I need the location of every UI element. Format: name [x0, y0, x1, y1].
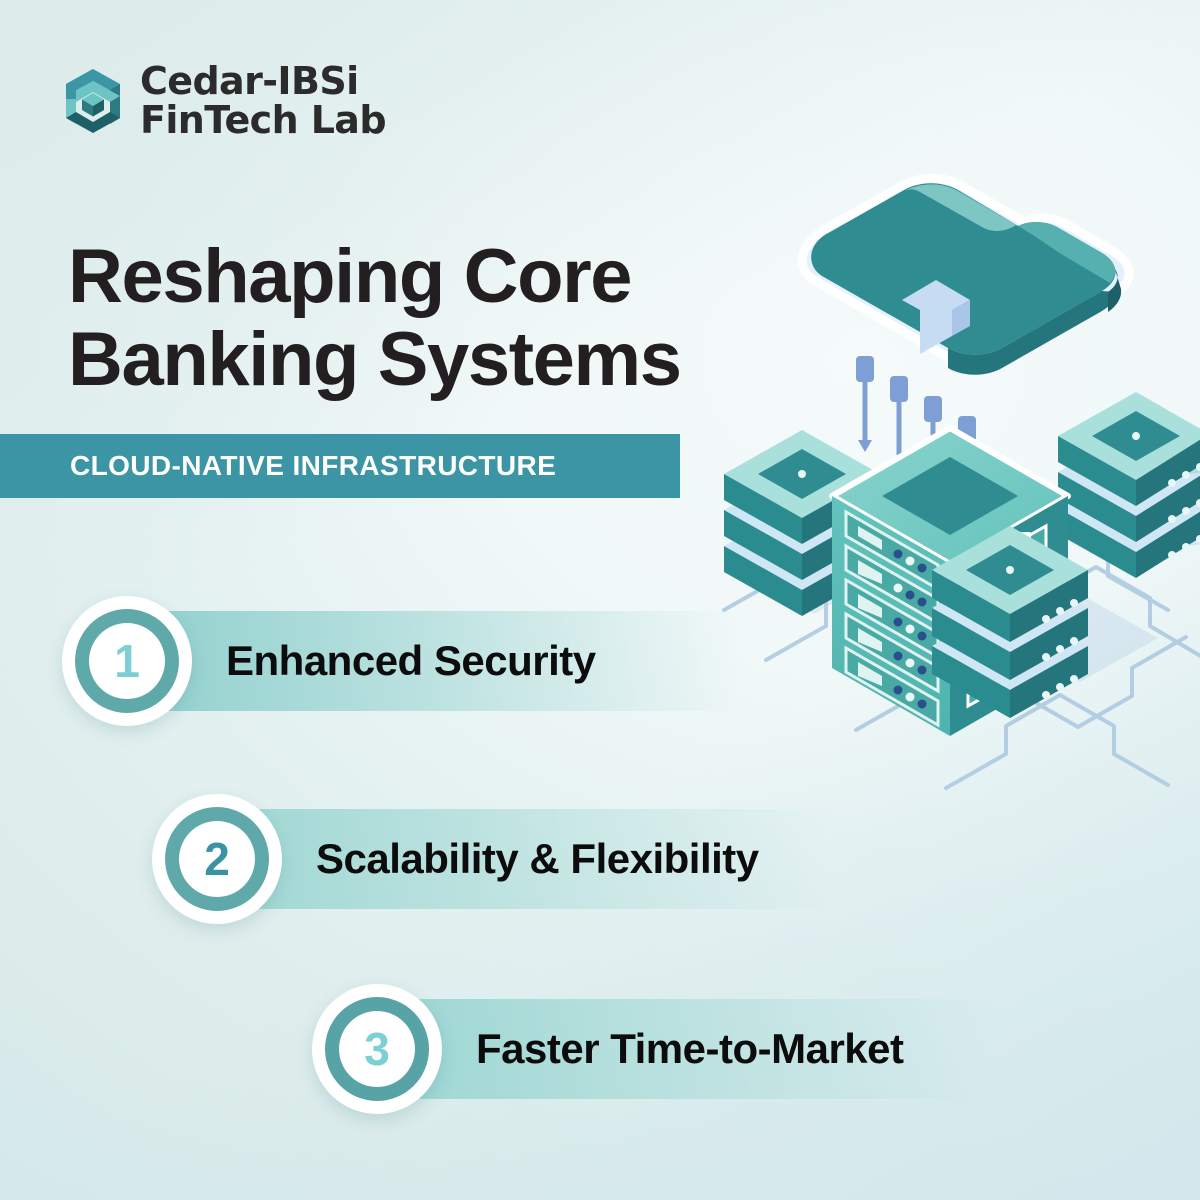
- benefit-number-2: 2: [204, 836, 230, 882]
- benefit-label-2: Scalability & Flexibility: [316, 835, 759, 883]
- ground-shadows: [736, 466, 1200, 682]
- benefit-number-1: 1: [114, 638, 140, 684]
- brand-wordmark: Cedar-IBSi FinTech Lab: [140, 62, 386, 140]
- badge-ring-3: 3: [325, 997, 429, 1101]
- ribbon-label: CLOUD-NATIVE INFRASTRUCTURE: [0, 450, 556, 482]
- circuit-traces: [724, 517, 1200, 788]
- main-server-rack: [832, 428, 1068, 736]
- benefit-label-3: Faster Time-to-Market: [476, 1025, 904, 1073]
- benefit-badge-1: 1: [62, 596, 192, 726]
- upload-arrow-icon: [902, 280, 970, 354]
- benefit-item-2[interactable]: 2 Scalability & Flexibility: [152, 794, 759, 924]
- page-title: Reshaping Core Banking Systems: [68, 236, 681, 402]
- server-stack-right: [1058, 392, 1200, 578]
- brand-logo[interactable]: Cedar-IBSi FinTech Lab: [62, 62, 386, 140]
- subtitle-ribbon: CLOUD-NATIVE INFRASTRUCTURE: [0, 434, 680, 498]
- rack-side-panels: [968, 526, 1046, 706]
- badge-ring-1: 1: [75, 609, 179, 713]
- benefit-badge-3: 3: [312, 984, 442, 1114]
- brand-line-2: FinTech Lab: [140, 101, 386, 140]
- badge-inner-1: 1: [89, 623, 165, 699]
- hexagon-cube-logo-icon: [62, 68, 124, 134]
- badge-ring-2: 2: [165, 807, 269, 911]
- brand-line-1: Cedar-IBSi: [140, 62, 386, 101]
- badge-inner-2: 2: [179, 821, 255, 897]
- server-stack-left: [724, 430, 880, 616]
- benefit-item-1[interactable]: 1 Enhanced Security: [62, 596, 596, 726]
- benefit-label-1: Enhanced Security: [226, 637, 596, 685]
- benefit-item-3[interactable]: 3 Faster Time-to-Market: [312, 984, 904, 1114]
- isometric-cloud-server-illustration: [706, 140, 1200, 800]
- rack-slots: [846, 512, 938, 725]
- badge-inner-3: 3: [339, 1011, 415, 1087]
- server-stack-bottom: [932, 526, 1088, 718]
- benefit-badge-2: 2: [152, 794, 282, 924]
- cable-connectors: [856, 356, 976, 512]
- cloud-icon: [802, 179, 1129, 375]
- poster-canvas: Cedar-IBSi FinTech Lab Reshaping Core Ba…: [0, 0, 1200, 1200]
- benefit-number-3: 3: [364, 1026, 390, 1072]
